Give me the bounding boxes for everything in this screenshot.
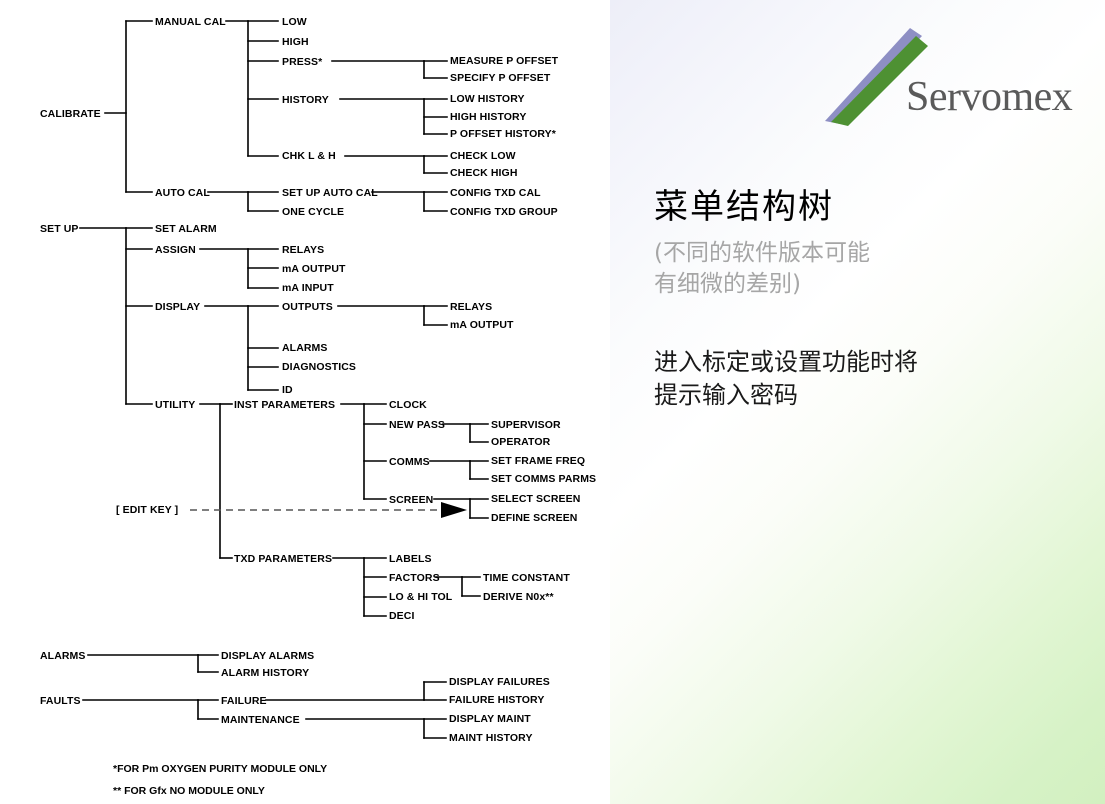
node-maint-history[interactable]: MAINT HISTORY <box>449 732 533 744</box>
node-alarms-sub[interactable]: ALARMS <box>282 342 328 354</box>
node-chk-l-h[interactable]: CHK L & H <box>282 150 336 162</box>
node-set-alarm[interactable]: SET ALARM <box>155 223 217 235</box>
node-failure[interactable]: FAILURE <box>221 695 267 707</box>
node-press[interactable]: PRESS* <box>282 56 323 68</box>
slide-right-panel: Servomex 菜单结构树 (不同的软件版本可能 有细微的差别) 进入标定或设… <box>610 0 1105 804</box>
node-display-failures[interactable]: DISPLAY FAILURES <box>449 676 550 688</box>
node-auto-cal[interactable]: AUTO CAL <box>155 187 210 199</box>
node-set-up-auto-cal[interactable]: SET UP AUTO CAL <box>282 187 378 199</box>
node-utility[interactable]: UTILITY <box>155 399 195 411</box>
node-manual-cal[interactable]: MANUAL CAL <box>155 16 226 28</box>
node-assign-relays[interactable]: RELAYS <box>282 244 324 256</box>
node-id[interactable]: ID <box>282 384 293 396</box>
node-set-up[interactable]: SET UP <box>40 223 79 235</box>
node-check-high[interactable]: CHECK HIGH <box>450 167 518 179</box>
node-config-txd-cal[interactable]: CONFIG TXD CAL <box>450 187 541 199</box>
node-txd-parameters[interactable]: TXD PARAMETERS <box>234 553 332 565</box>
node-outputs-ma-output[interactable]: mA OUTPUT <box>450 319 514 331</box>
node-calibrate[interactable]: CALIBRATE <box>40 108 101 120</box>
node-display[interactable]: DISPLAY <box>155 301 200 313</box>
node-check-low[interactable]: CHECK LOW <box>450 150 516 162</box>
node-deci[interactable]: DECI <box>389 610 415 622</box>
slide-body-cn: 进入标定或设置功能时将 提示输入密码 <box>654 346 918 412</box>
node-derive-nox[interactable]: DERIVE N0x** <box>483 591 554 603</box>
node-config-txd-group[interactable]: CONFIG TXD GROUP <box>450 206 558 218</box>
slide-subtitle-cn: (不同的软件版本可能 有细微的差别) <box>654 238 870 300</box>
node-labels[interactable]: LABELS <box>389 553 432 565</box>
node-time-constant[interactable]: TIME CONSTANT <box>483 572 570 584</box>
node-comms[interactable]: COMMS <box>389 456 430 468</box>
node-lo-hi-tol[interactable]: LO & HI TOL <box>389 591 453 603</box>
node-operator[interactable]: OPERATOR <box>491 436 551 448</box>
node-define-screen[interactable]: DEFINE SCREEN <box>491 512 577 524</box>
node-alarm-history[interactable]: ALARM HISTORY <box>221 667 309 679</box>
node-factors[interactable]: FACTORS <box>389 572 440 584</box>
menu-structure-tree-diagram: CALIBRATE MANUAL CAL LOW HIGH PRESS* MEA… <box>0 0 610 804</box>
slide-title-cn: 菜单结构树 <box>654 186 834 228</box>
annotation-edit-key: [ EDIT KEY ] <box>116 504 178 516</box>
node-clock[interactable]: CLOCK <box>389 399 427 411</box>
node-display-alarms[interactable]: DISPLAY ALARMS <box>221 650 314 662</box>
node-assign-ma-input[interactable]: mA INPUT <box>282 282 334 294</box>
servomex-logo: Servomex <box>810 18 1095 138</box>
footnote-gfx-module: ** FOR Gfx NO MODULE ONLY <box>113 785 265 797</box>
node-history[interactable]: HISTORY <box>282 94 329 106</box>
node-display-maint[interactable]: DISPLAY MAINT <box>449 713 531 725</box>
node-specify-p-offset[interactable]: SPECIFY P OFFSET <box>450 72 551 84</box>
node-high[interactable]: HIGH <box>282 36 309 48</box>
node-maintenance[interactable]: MAINTENANCE <box>221 714 300 726</box>
slide-canvas: Servomex 菜单结构树 (不同的软件版本可能 有细微的差别) 进入标定或设… <box>0 0 1105 804</box>
node-low[interactable]: LOW <box>282 16 307 28</box>
node-low-history[interactable]: LOW HISTORY <box>450 93 525 105</box>
node-outputs[interactable]: OUTPUTS <box>282 301 333 313</box>
node-alarms[interactable]: ALARMS <box>40 650 86 662</box>
node-set-comms-parms[interactable]: SET COMMS PARMS <box>491 473 596 485</box>
node-set-frame-freq[interactable]: SET FRAME FREQ <box>491 455 585 467</box>
node-high-history[interactable]: HIGH HISTORY <box>450 111 526 123</box>
servomex-wordmark: Servomex <box>906 76 1072 118</box>
node-one-cycle[interactable]: ONE CYCLE <box>282 206 344 218</box>
node-new-pass[interactable]: NEW PASS <box>389 419 445 431</box>
node-measure-p-offset[interactable]: MEASURE P OFFSET <box>450 55 559 67</box>
node-diagnostics[interactable]: DIAGNOSTICS <box>282 361 356 373</box>
node-screen[interactable]: SCREEN <box>389 494 433 506</box>
node-select-screen[interactable]: SELECT SCREEN <box>491 493 580 505</box>
node-failure-history[interactable]: FAILURE HISTORY <box>449 694 544 706</box>
node-inst-parameters[interactable]: INST PARAMETERS <box>234 399 335 411</box>
node-assign-ma-output[interactable]: mA OUTPUT <box>282 263 346 275</box>
node-supervisor[interactable]: SUPERVISOR <box>491 419 561 431</box>
node-p-offset-history[interactable]: P OFFSET HISTORY* <box>450 128 557 140</box>
edit-key-arrowhead <box>441 502 467 518</box>
footnote-pm-module: *FOR Pm OXYGEN PURITY MODULE ONLY <box>113 763 327 775</box>
node-outputs-relays[interactable]: RELAYS <box>450 301 492 313</box>
node-assign[interactable]: ASSIGN <box>155 244 196 256</box>
node-faults[interactable]: FAULTS <box>40 695 81 707</box>
